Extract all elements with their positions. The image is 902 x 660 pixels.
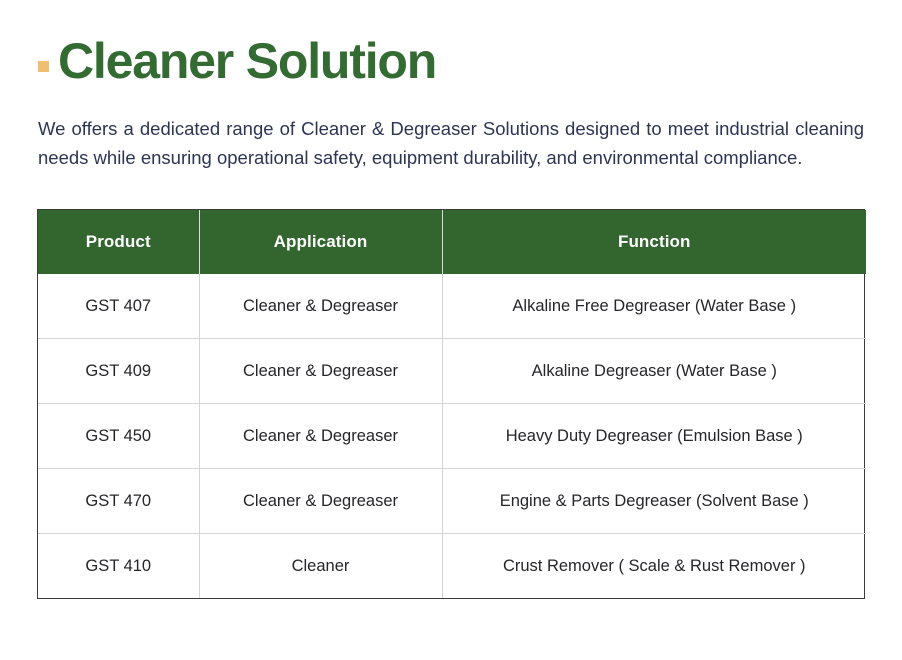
cell-application: Cleaner & Degreaser: [199, 404, 442, 469]
cell-application: Cleaner & Degreaser: [199, 339, 442, 404]
cell-function: Alkaline Degreaser (Water Base ): [442, 339, 866, 404]
table-row: GST 410 Cleaner Crust Remover ( Scale & …: [38, 534, 866, 599]
slide-page: Cleaner Solution We offers a dedicated r…: [0, 0, 902, 660]
page-title: Cleaner Solution: [58, 36, 436, 86]
cell-function: Crust Remover ( Scale & Rust Remover ): [442, 534, 866, 599]
cell-application: Cleaner & Degreaser: [199, 469, 442, 534]
cell-function: Engine & Parts Degreaser (Solvent Base ): [442, 469, 866, 534]
cell-product: GST 410: [38, 534, 199, 599]
product-table: Product Application Function GST 407 Cle…: [38, 210, 866, 598]
table-row: GST 450 Cleaner & Degreaser Heavy Duty D…: [38, 404, 866, 469]
column-header-product: Product: [38, 210, 199, 274]
table-row: GST 470 Cleaner & Degreaser Engine & Par…: [38, 469, 866, 534]
cell-product: GST 407: [38, 274, 199, 339]
table-row: GST 407 Cleaner & Degreaser Alkaline Fre…: [38, 274, 866, 339]
table-header: Product Application Function: [38, 210, 866, 274]
column-header-function: Function: [442, 210, 866, 274]
square-bullet-icon: [38, 61, 49, 72]
table-row: GST 409 Cleaner & Degreaser Alkaline Deg…: [38, 339, 866, 404]
intro-paragraph-text: We offers a dedicated range of Cleaner &…: [38, 118, 864, 168]
table-body: GST 407 Cleaner & Degreaser Alkaline Fre…: [38, 274, 866, 598]
cell-product: GST 409: [38, 339, 199, 404]
cell-application: Cleaner: [199, 534, 442, 599]
product-table-container: Product Application Function GST 407 Cle…: [37, 209, 865, 599]
cell-product: GST 470: [38, 469, 199, 534]
table-header-row: Product Application Function: [38, 210, 866, 274]
cell-function: Alkaline Free Degreaser (Water Base ): [442, 274, 866, 339]
column-header-application: Application: [199, 210, 442, 274]
cell-function: Heavy Duty Degreaser (Emulsion Base ): [442, 404, 866, 469]
intro-paragraph: We offers a dedicated range of Cleaner &…: [38, 114, 864, 172]
cell-product: GST 450: [38, 404, 199, 469]
title-row: Cleaner Solution: [0, 0, 902, 92]
cell-application: Cleaner & Degreaser: [199, 274, 442, 339]
